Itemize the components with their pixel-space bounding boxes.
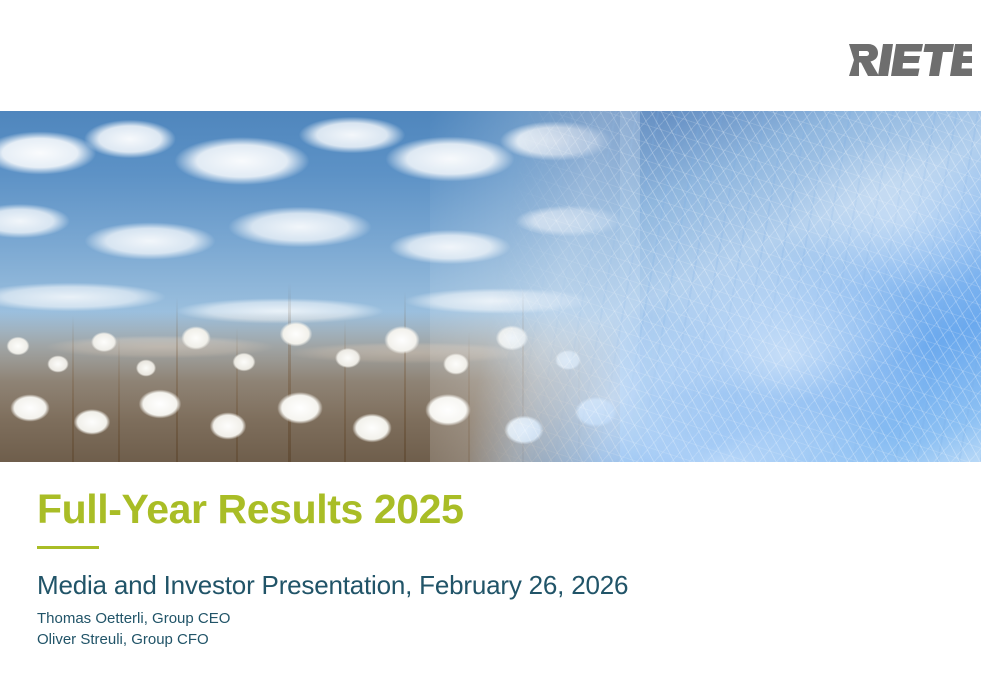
title-block: Full-Year Results 2025 Media and Investo… (37, 486, 937, 650)
list-item: Oliver Streuli, Group CFO (37, 629, 937, 650)
rieter-logo-icon (848, 42, 972, 78)
presenter-list: Thomas Oetterli, Group CEO Oliver Streul… (37, 601, 937, 650)
list-item: Thomas Oetterli, Group CEO (37, 608, 937, 629)
blue-fibre-image (470, 111, 981, 462)
hero-banner-image (0, 111, 981, 462)
fibre-haze-layer (470, 111, 981, 462)
page-title: Full-Year Results 2025 (37, 486, 937, 532)
presentation-title-slide: Full-Year Results 2025 Media and Investo… (0, 0, 1000, 685)
slide-header (0, 0, 1000, 110)
page-subtitle: Media and Investor Presentation, Februar… (37, 549, 937, 601)
